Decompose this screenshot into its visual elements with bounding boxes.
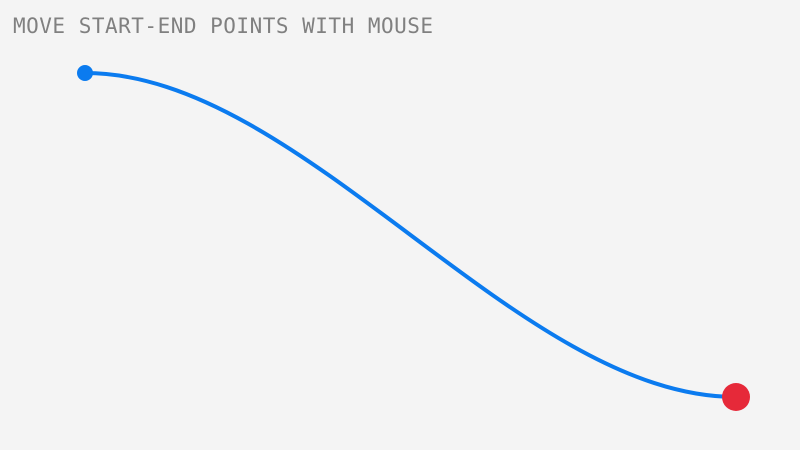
start-point-drag-target[interactable] <box>69 57 101 89</box>
end-point-drag-target[interactable] <box>714 375 758 419</box>
bezier-stage <box>0 0 800 450</box>
page-title: MOVE START-END POINTS WITH MOUSE <box>13 13 434 39</box>
bezier-canvas[interactable]: MOVE START-END POINTS WITH MOUSE <box>0 0 800 450</box>
